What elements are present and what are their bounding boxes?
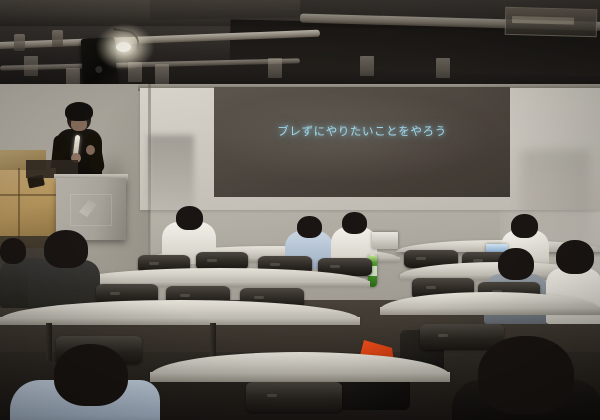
ceiling-mount <box>268 58 282 78</box>
audience-person <box>160 206 218 258</box>
wall-shadow <box>148 135 194 213</box>
desk-edge <box>150 372 450 382</box>
person-head <box>297 216 322 238</box>
person-head <box>0 238 26 264</box>
audience-person <box>452 336 600 420</box>
track-light-icon <box>14 34 25 51</box>
desk-leg <box>210 323 216 357</box>
desk-edge <box>380 307 600 315</box>
projected-slide: ブレずにやりたいことをやろう <box>214 87 510 197</box>
person-head <box>498 248 534 280</box>
person-head <box>44 230 88 268</box>
person-head <box>478 336 574 414</box>
track-light-icon <box>52 30 63 47</box>
ceiling-mount <box>24 56 38 76</box>
person-head <box>556 240 594 274</box>
ceiling-mount <box>436 58 450 78</box>
chair <box>246 382 342 412</box>
ceiling-mount <box>360 56 374 76</box>
presenter-hair <box>65 102 93 121</box>
desk-edge <box>0 317 360 325</box>
ceiling-mount <box>128 62 142 82</box>
lectern-logo-icon <box>70 194 112 226</box>
person-head <box>176 206 203 230</box>
person-head <box>511 214 538 238</box>
audience-person <box>10 344 160 420</box>
person-head <box>342 212 367 234</box>
person-head <box>54 344 128 406</box>
laptop <box>372 232 398 249</box>
ceiling-mount <box>155 64 169 84</box>
presenter-hand <box>86 145 95 155</box>
slide-headline: ブレずにやりたいことをやろう <box>214 123 510 139</box>
box-seam <box>0 194 56 196</box>
ceiling-equipment-panel <box>505 7 598 37</box>
photo-scene: ブレずにやりたいことをやろう <box>0 0 600 420</box>
ceiling <box>0 0 600 96</box>
spotlight-lamp-icon <box>116 42 131 52</box>
